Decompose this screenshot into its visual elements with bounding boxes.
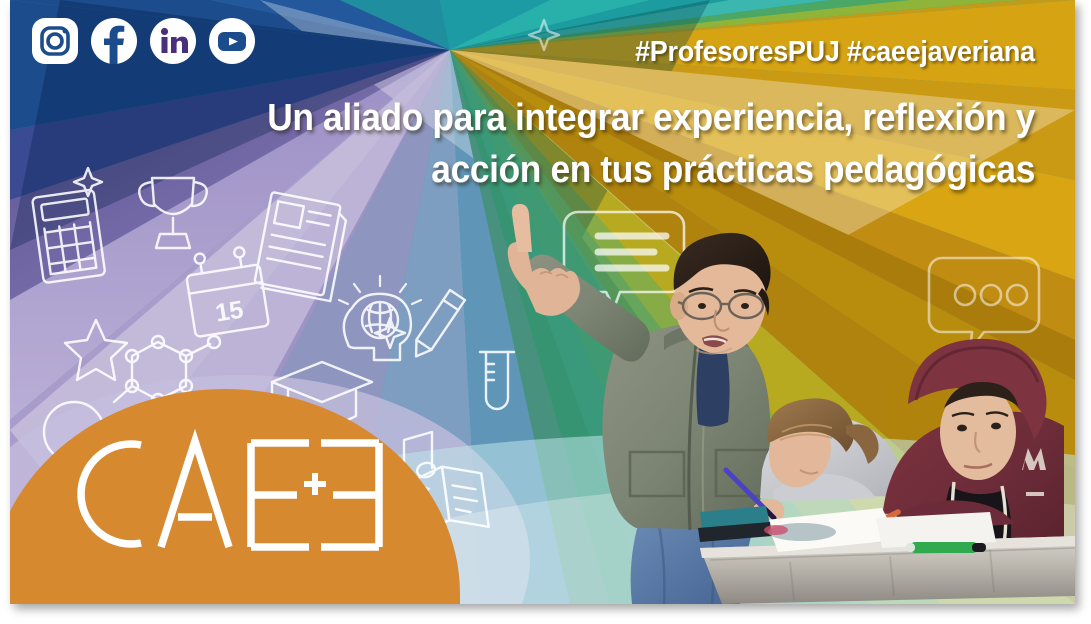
caee-logo-svg bbox=[65, 429, 395, 559]
banner-canvas: 15 bbox=[10, 0, 1075, 604]
hashtags-text: #ProfesoresPUJ #caeejaveriana bbox=[635, 36, 1035, 69]
green-marker bbox=[906, 542, 986, 553]
headline-line-2: acción en tus prácticas pedagógicas bbox=[198, 144, 1035, 196]
social-links[interactable] bbox=[32, 18, 255, 64]
teacher-figure bbox=[508, 204, 771, 604]
youtube-icon[interactable] bbox=[209, 18, 255, 64]
linkedin-icon[interactable] bbox=[150, 18, 196, 64]
facebook-icon[interactable] bbox=[91, 18, 137, 64]
logo-letter-c bbox=[81, 444, 141, 544]
logo-plus bbox=[304, 473, 326, 495]
logo-letter-a bbox=[161, 441, 229, 547]
logo-letter-e-reversed bbox=[321, 443, 379, 547]
logo-letter-e bbox=[251, 443, 309, 547]
banner-root: 15 bbox=[0, 0, 1091, 624]
headline-text: Un aliado para integrar experiencia, ref… bbox=[198, 92, 1035, 196]
caee-logo bbox=[65, 429, 395, 564]
headline-line-1: Un aliado para integrar experiencia, ref… bbox=[198, 92, 1035, 144]
instagram-icon[interactable] bbox=[32, 18, 78, 64]
